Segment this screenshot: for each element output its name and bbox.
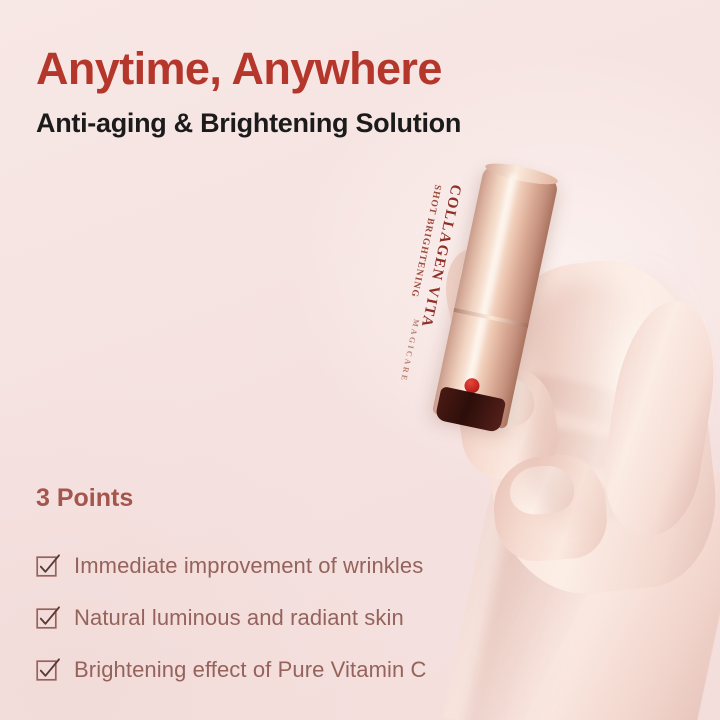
list-item-label: Natural luminous and radiant skin bbox=[74, 605, 404, 631]
list-item-label: Immediate improvement of wrinkles bbox=[74, 553, 423, 579]
tube-label-sub: SHOT BRIGHTENING bbox=[409, 184, 443, 299]
hand-contact-shadow bbox=[528, 280, 648, 530]
list-item: Immediate improvement of wrinkles bbox=[36, 540, 596, 592]
tube-label-brand: MAGICARE bbox=[399, 318, 421, 383]
list-item-label: Brightening effect of Pure Vitamin C bbox=[74, 657, 427, 683]
subheadline: Anti-aging & Brightening Solution bbox=[36, 110, 461, 137]
points-section-title: 3 Points bbox=[36, 484, 133, 513]
checkbox-checked-icon bbox=[36, 606, 60, 630]
list-item: Brightening effect of Pure Vitamin C bbox=[36, 644, 596, 696]
list-item: Natural luminous and radiant skin bbox=[36, 592, 596, 644]
checkbox-checked-icon bbox=[36, 554, 60, 578]
promo-banner: COLLAGEN VITA SHOT BRIGHTENING MAGICARE … bbox=[0, 0, 720, 720]
headline: Anytime, Anywhere bbox=[36, 46, 442, 91]
points-list: Immediate improvement of wrinkles Natura… bbox=[36, 540, 596, 696]
checkbox-checked-icon bbox=[36, 658, 60, 682]
